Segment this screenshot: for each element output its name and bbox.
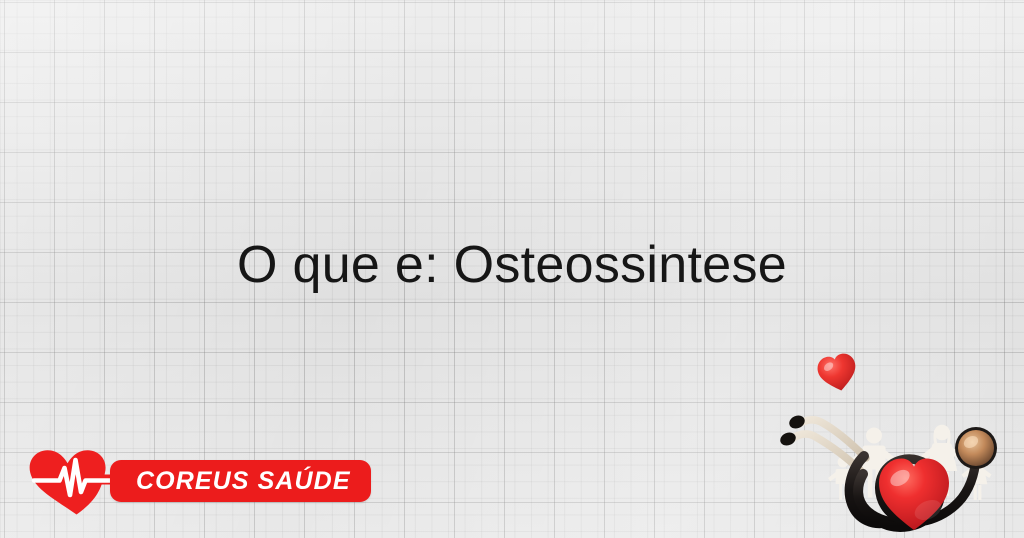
brand-name-label: COREUS SAÚDE <box>136 467 351 496</box>
brand-logo[interactable]: COREUS SAÚDE <box>26 446 356 518</box>
coreus-saude-badge[interactable]: COREUS SAÚDE <box>110 460 371 502</box>
illustration-alt-text: health-family-stethoscope-illustration <box>0 0 1 1</box>
small-heart-icon <box>815 351 860 394</box>
stethoscope-chest-piece-icon <box>955 427 997 469</box>
slide-canvas: O que e: Osteossintese COREUS SAÚDE <box>0 0 1024 538</box>
page-title: O que e: Osteossintese <box>0 236 1024 296</box>
health-family-stethoscope-illustration <box>780 348 1024 538</box>
